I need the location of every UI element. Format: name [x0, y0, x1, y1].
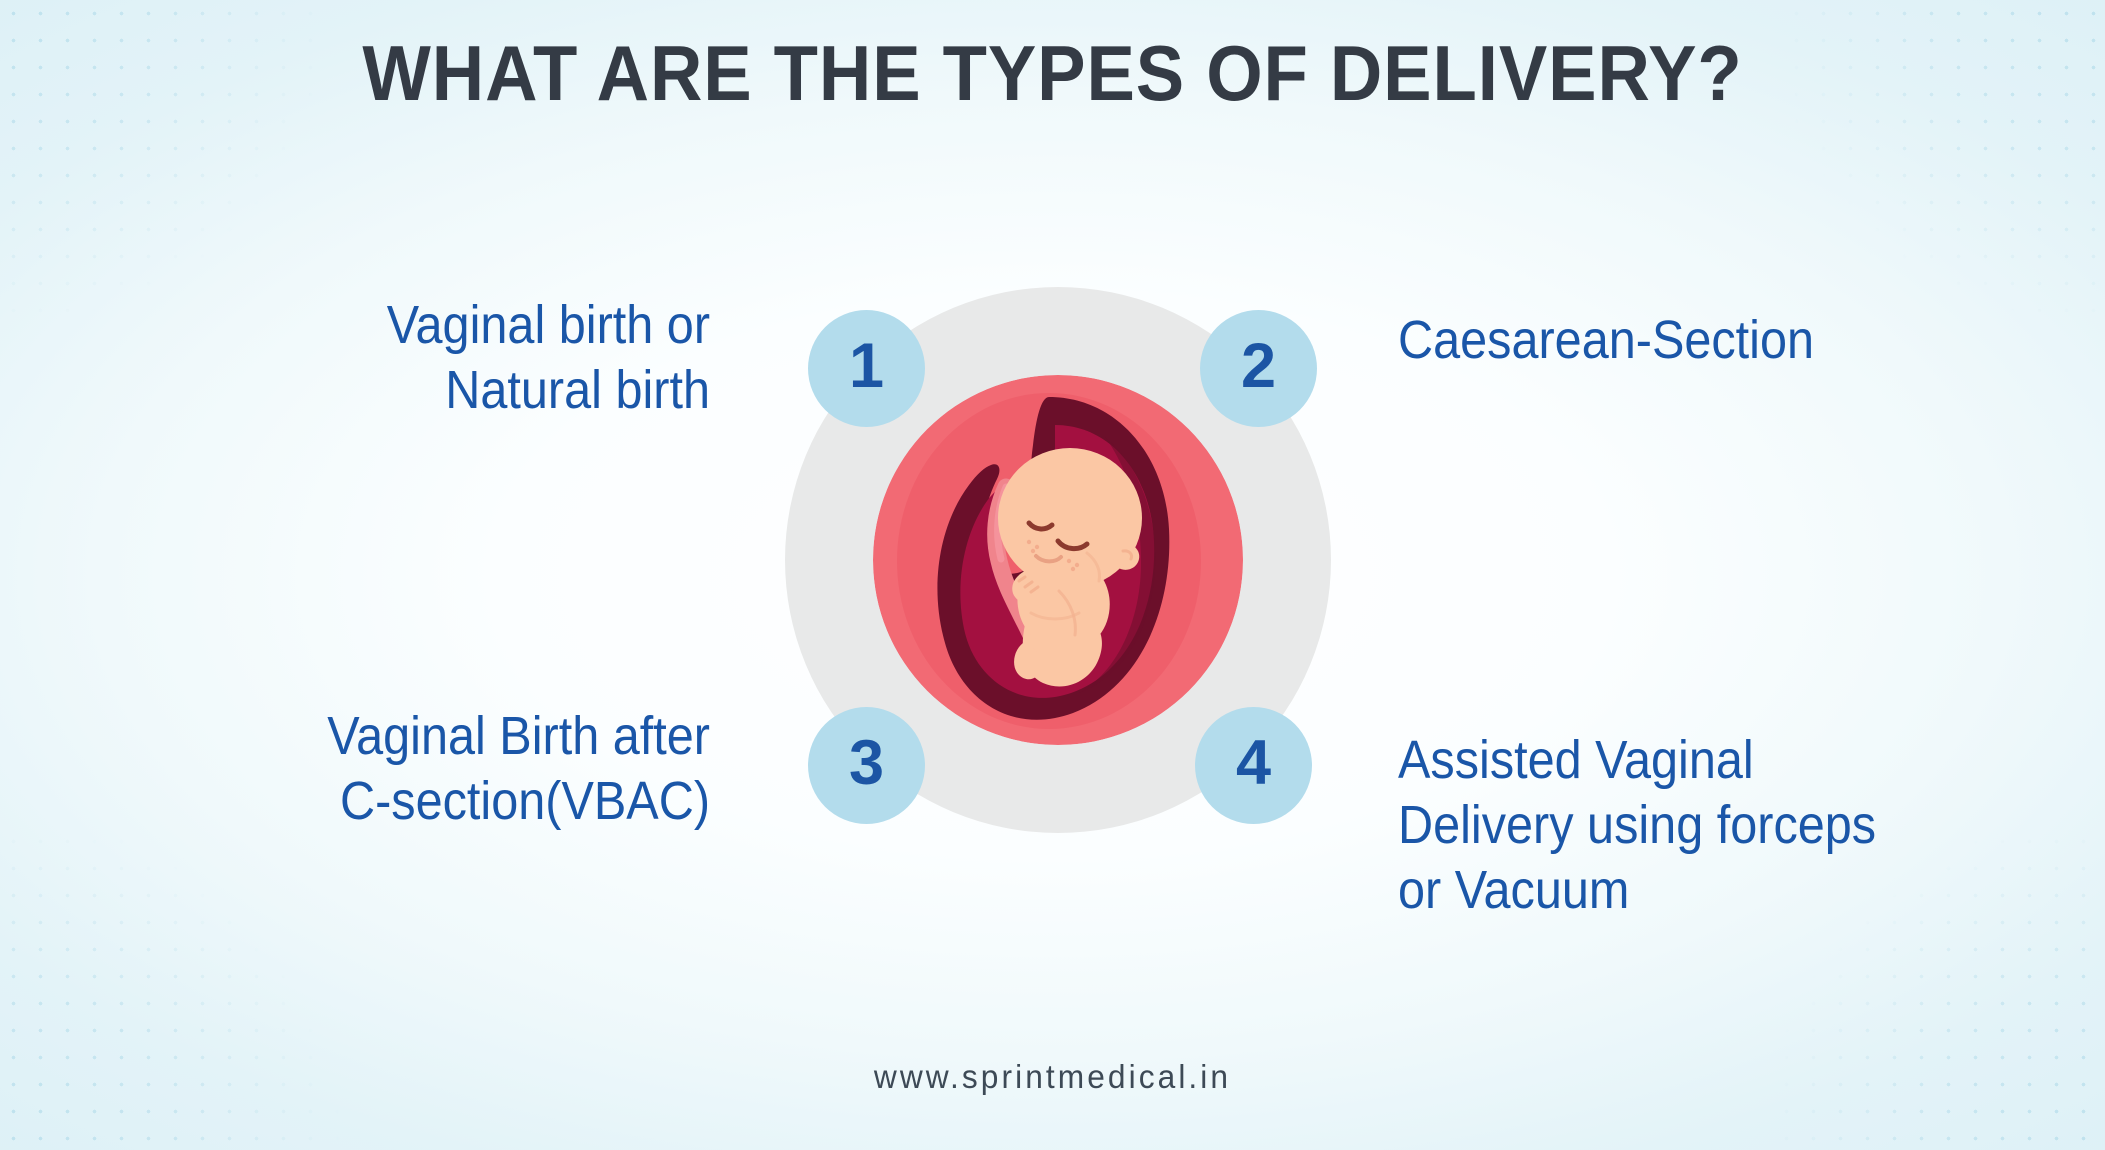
label-line: Natural birth	[233, 358, 710, 423]
badge-number-1[interactable]: 1	[808, 310, 925, 427]
label-line: Assisted Vaginal	[1398, 728, 2010, 793]
label-line: Vaginal Birth after	[170, 704, 710, 769]
label-line: C-section(VBAC)	[170, 769, 710, 834]
badge-number-4[interactable]: 4	[1195, 707, 1312, 824]
delivery-type-label-3: Vaginal Birth after C-section(VBAC)	[170, 704, 710, 834]
badge-number-3[interactable]: 3	[808, 707, 925, 824]
label-line: Vaginal birth or	[233, 293, 710, 358]
label-line: Caesarean-Section	[1398, 308, 1974, 373]
delivery-type-label-4: Assisted Vaginal Delivery using forceps …	[1398, 728, 2010, 922]
infographic-canvas: WHAT ARE THE TYPES OF DELIVERY?	[0, 0, 2105, 1150]
delivery-type-label-2: Caesarean-Section	[1398, 308, 1974, 373]
delivery-type-label-1: Vaginal birth or Natural birth	[233, 293, 710, 423]
badge-number-2[interactable]: 2	[1200, 310, 1317, 427]
fetus-in-womb-icon	[873, 375, 1243, 745]
label-line: or Vacuum	[1398, 858, 2010, 923]
page-title: WHAT ARE THE TYPES OF DELIVERY?	[74, 28, 2032, 119]
website-url[interactable]: www.sprintmedical.in	[42, 1058, 2063, 1096]
label-line: Delivery using forceps	[1398, 793, 2010, 858]
